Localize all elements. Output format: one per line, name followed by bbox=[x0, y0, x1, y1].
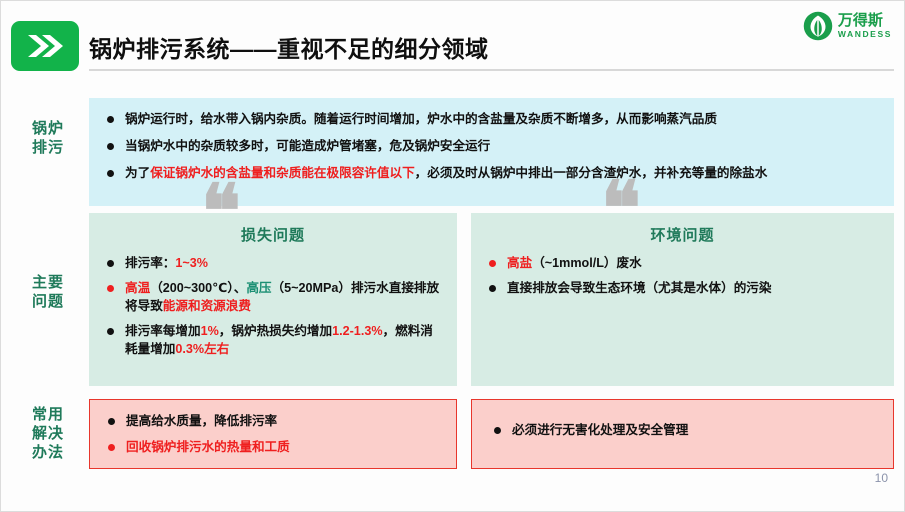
logo-name-en: WANDESS bbox=[838, 30, 892, 39]
sidebar-label-line: 锅炉 bbox=[13, 119, 83, 138]
bullet-dot-icon bbox=[107, 143, 114, 150]
header-divider bbox=[89, 69, 894, 71]
bullet-text-segment: （200~300℃）、 bbox=[150, 281, 246, 295]
bullet-text-segment: 提高给水质量，降低排污率 bbox=[126, 414, 277, 428]
bullet-text-segment: 回收锅炉排污水的热量和工质 bbox=[126, 440, 290, 454]
bullet-text-segment: 高温 bbox=[125, 281, 150, 295]
bullet-text-segment: 高盐 bbox=[507, 256, 532, 270]
bullet-dot-red-icon bbox=[107, 285, 114, 292]
bullet-item: 锅炉运行时，给水带入锅内杂质。随着运行时间增加，炉水中的含盐量及杂质不断增多，从… bbox=[103, 111, 878, 129]
bullet-text-segment: 能源和资源浪费 bbox=[163, 299, 251, 313]
bullet-item: 高盐（~1mmol/L）废水 bbox=[485, 255, 882, 273]
bullet-item: 直接排放会导致生态环境（尤其是水体）的污染 bbox=[485, 280, 882, 298]
bullet-text-segment: 排污率每增加 bbox=[125, 324, 201, 338]
bullet-item: 提高给水质量，降低排污率 bbox=[104, 413, 444, 431]
intro-bullet-list: 锅炉运行时，给水带入锅内杂质。随着运行时间增加，炉水中的含盐量及杂质不断增多，从… bbox=[89, 98, 894, 183]
solution-left-bullet-list: 提高给水质量，降低排污率回收锅炉排污水的热量和工质 bbox=[90, 400, 456, 457]
bullet-dot-icon bbox=[107, 116, 114, 123]
bullet-dot-icon bbox=[494, 427, 501, 434]
sidebar-label-common-solutions: 常用解决办法 bbox=[13, 405, 83, 463]
bullet-text-segment: 为了 bbox=[125, 166, 150, 180]
page-number: 10 bbox=[875, 471, 888, 485]
bullet-item: 必须进行无害化处理及安全管理 bbox=[490, 422, 881, 440]
bullet-text-segment: ，必须及时从锅炉中排出一部分含渣炉水，并补充等量的除盐水 bbox=[415, 166, 768, 180]
bullet-item: 排污率每增加1%，锅炉热损失约增加1.2-1.3%，燃料消耗量增加0.3%左右 bbox=[103, 323, 445, 359]
bullet-item: 高温（200~300℃）、高压（5~20MPa）排污水直接排放将导致能源和资源浪… bbox=[103, 280, 445, 316]
bullet-item: 回收锅炉排污水的热量和工质 bbox=[104, 439, 444, 457]
loss-bullet-list: 排污率：1~3%高温（200~300℃）、高压（5~20MPa）排污水直接排放将… bbox=[89, 245, 457, 358]
bullet-text-segment: ，锅炉热损失约增加 bbox=[219, 324, 332, 338]
bullet-text-segment: 必须进行无害化处理及安全管理 bbox=[512, 423, 688, 437]
loss-panel-title: 损失问题 bbox=[89, 213, 457, 245]
sidebar-label-line: 主要 bbox=[13, 273, 83, 292]
sidebar-label-line: 排污 bbox=[13, 138, 83, 157]
bullet-dot-icon bbox=[107, 328, 114, 335]
solution-right-bullet-list: 必须进行无害化处理及安全管理 bbox=[472, 400, 893, 440]
bullet-text-segment: 直接排放会导致生态环境（尤其是水体）的污染 bbox=[507, 281, 771, 295]
bullet-text-segment: 0.3%左右 bbox=[175, 342, 229, 356]
sidebar-label-line: 问题 bbox=[13, 292, 83, 311]
solution-left-panel: 提高给水质量，降低排污率回收锅炉排污水的热量和工质 bbox=[89, 399, 457, 469]
bullet-dot-icon bbox=[107, 260, 114, 267]
logo-name-cn: 万得斯 bbox=[838, 13, 892, 28]
slide-canvas: 锅炉排污系统——重视不足的细分领域 万得斯 WANDESS 锅炉排污 主要问题 … bbox=[0, 0, 905, 512]
bullet-text-segment: 1~3% bbox=[175, 256, 208, 270]
bullet-dot-icon bbox=[108, 418, 115, 425]
sidebar-label-main-problems: 主要问题 bbox=[13, 273, 83, 311]
solution-right-panel: 必须进行无害化处理及安全管理 bbox=[471, 399, 894, 469]
bullet-item: 当锅炉水中的杂质较多时，可能造成炉管堵塞，危及锅炉安全运行 bbox=[103, 138, 878, 156]
bullet-text-segment: 1% bbox=[201, 324, 219, 338]
sidebar-label-line: 解决 bbox=[13, 424, 83, 443]
bullet-text-segment: 1.2-1.3% bbox=[332, 324, 382, 338]
loss-problem-panel: 损失问题 排污率：1~3%高温（200~300℃）、高压（5~20MPa）排污水… bbox=[89, 213, 457, 386]
bullet-text-segment: 保证锅炉水的含盐量和杂质能在极限容许值以下 bbox=[150, 166, 414, 180]
wandess-leaf-icon bbox=[803, 11, 833, 41]
bullet-text-segment: （~1mmol/L）废水 bbox=[532, 256, 642, 270]
brand-logo: 万得斯 WANDESS bbox=[803, 11, 892, 41]
page-title: 锅炉排污系统——重视不足的细分领域 bbox=[89, 30, 489, 64]
bullet-dot-red-icon bbox=[108, 444, 115, 451]
bullet-text-segment: 排污率： bbox=[125, 256, 175, 270]
sidebar-label-line: 常用 bbox=[13, 405, 83, 424]
bullet-text-segment: 锅炉运行时，给水带入锅内杂质。随着运行时间增加，炉水中的含盐量及杂质不断增多，从… bbox=[125, 112, 717, 126]
sidebar-label-boiler-blowdown: 锅炉排污 bbox=[13, 119, 83, 157]
bullet-item: 排污率：1~3% bbox=[103, 255, 445, 273]
bullet-dot-red-icon bbox=[489, 260, 496, 267]
env-bullet-list: 高盐（~1mmol/L）废水直接排放会导致生态环境（尤其是水体）的污染 bbox=[471, 245, 894, 298]
double-chevron-right-icon bbox=[11, 21, 79, 71]
bullet-text-segment: 当锅炉水中的杂质较多时，可能造成炉管堵塞，危及锅炉安全运行 bbox=[125, 139, 490, 153]
bullet-text-segment: 高压 bbox=[246, 281, 271, 295]
sidebar-label-line: 办法 bbox=[13, 443, 83, 462]
environment-problem-panel: 环境问题 高盐（~1mmol/L）废水直接排放会导致生态环境（尤其是水体）的污染 bbox=[471, 213, 894, 386]
bullet-dot-icon bbox=[107, 170, 114, 177]
bullet-dot-icon bbox=[489, 285, 496, 292]
env-panel-title: 环境问题 bbox=[471, 213, 894, 245]
